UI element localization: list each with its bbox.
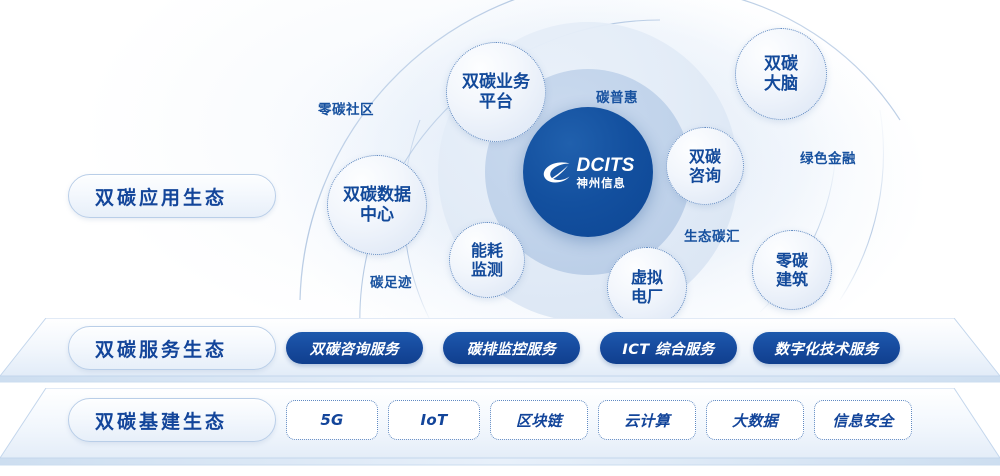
label-carbon-inclusion: 碳普惠 [596, 86, 638, 106]
label-carbon-footprint: 碳足迹 [370, 271, 412, 291]
bubble-label: 双碳咨询 [689, 147, 721, 185]
bubble-label-line1: 零碳 [776, 251, 808, 270]
bubble-label-line2: 电厂 [631, 287, 663, 306]
bubble-business-platform[interactable]: 双碳业务平台 [446, 42, 546, 142]
bubble-label-line1: 双碳数据 [343, 185, 411, 205]
bubble-label-line2: 大脑 [764, 74, 798, 94]
dcits-logo: DCITS 神州信息 [523, 107, 653, 237]
bubble-label-line1: 双碳 [689, 147, 721, 166]
bubble-label-line2: 监测 [471, 260, 503, 279]
chip-carbon-monitoring-service[interactable]: 碳排监控服务 [443, 332, 580, 364]
bubble-label: 双碳业务平台 [462, 72, 530, 113]
label-ecological-carbon-sink: 生态碳汇 [684, 225, 740, 245]
bubble-label: 双碳数据中心 [343, 185, 411, 226]
diagram-canvas: DCITS 神州信息 双碳业务平台双碳大脑双碳数据中心双碳咨询能耗监测虚拟电厂零… [0, 0, 1000, 476]
chip-information-security[interactable]: 信息安全 [814, 400, 912, 440]
label-green-finance: 绿色金融 [800, 147, 856, 167]
bubble-label-line1: 虚拟 [631, 268, 663, 287]
label-zero-carbon-community: 零碳社区 [318, 98, 374, 118]
bubble-label-line2: 咨询 [689, 166, 721, 185]
row-label-service-text: 双碳服务生态 [95, 335, 227, 362]
bubble-label: 零碳建筑 [776, 251, 808, 289]
bubble-label-line1: 双碳 [764, 54, 798, 74]
chip-carbon-consulting-service[interactable]: 双碳咨询服务 [286, 332, 423, 364]
row-label-application-text: 双碳应用生态 [95, 183, 227, 210]
bubble-label: 虚拟电厂 [631, 268, 663, 306]
bubble-label-line2: 建筑 [776, 270, 808, 289]
chip-iot[interactable]: IoT [388, 400, 480, 440]
bubble-label-line2: 中心 [343, 205, 411, 225]
logo-text-en: DCITS [577, 156, 635, 175]
bubble-virtual-plant[interactable]: 虚拟电厂 [607, 247, 687, 327]
logo-text-cn: 神州信息 [577, 178, 635, 190]
bubble-label: 能耗监测 [471, 241, 503, 279]
row-label-service[interactable]: 双碳服务生态 [68, 326, 276, 370]
chip-digital-tech-service[interactable]: 数字化技术服务 [753, 332, 900, 364]
chip-ict-integrated-service[interactable]: ICT 综合服务 [600, 332, 737, 364]
bubble-label-line2: 平台 [462, 92, 530, 112]
bubble-data-center[interactable]: 双碳数据中心 [327, 155, 427, 255]
chip-big-data[interactable]: 大数据 [706, 400, 804, 440]
bubble-consulting[interactable]: 双碳咨询 [666, 127, 744, 205]
row-label-application[interactable]: 双碳应用生态 [68, 174, 276, 218]
bubble-energy-monitor[interactable]: 能耗监测 [449, 222, 525, 298]
chip-cloud-computing[interactable]: 云计算 [598, 400, 696, 440]
row-label-infrastructure-text: 双碳基建生态 [95, 407, 227, 434]
bubble-label: 双碳大脑 [764, 54, 798, 95]
bubble-label-line1: 能耗 [471, 241, 503, 260]
chip-blockchain[interactable]: 区块链 [490, 400, 588, 440]
bubble-zero-carbon-building[interactable]: 零碳建筑 [752, 230, 832, 310]
bubble-label-line1: 双碳业务 [462, 72, 530, 92]
chip-5g[interactable]: 5G [286, 400, 378, 440]
bubble-brain[interactable]: 双碳大脑 [735, 28, 827, 120]
row-label-infrastructure[interactable]: 双碳基建生态 [68, 398, 276, 442]
dcits-swoosh-icon [542, 160, 572, 186]
